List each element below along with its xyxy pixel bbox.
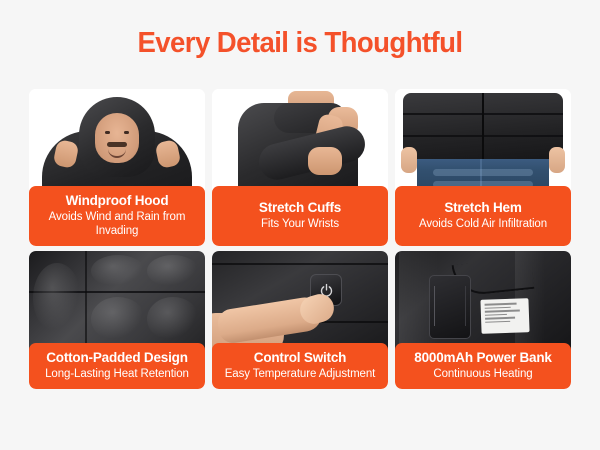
card-title: Control Switch	[216, 350, 384, 366]
photo-control-switch	[212, 251, 388, 350]
card-subtitle: Avoids Cold Air Infiltration	[399, 217, 567, 231]
card-subtitle: Fits Your Wrists	[216, 217, 384, 231]
feature-card-stretch-hem[interactable]: Stretch Hem Avoids Cold Air Infiltration	[395, 89, 571, 246]
label-stretch-cuffs: Stretch Cuffs Fits Your Wrists	[212, 186, 388, 246]
card-title: Windproof Hood	[33, 193, 201, 209]
label-windproof-hood: Windproof Hood Avoids Wind and Rain from…	[29, 186, 205, 246]
card-title: Stretch Cuffs	[216, 200, 384, 216]
label-control-switch: Control Switch Easy Temperature Adjustme…	[212, 343, 388, 389]
label-cotton-padded-design: Cotton-Padded Design Long-Lasting Heat R…	[29, 343, 205, 389]
photo-power-bank	[395, 251, 571, 350]
photo-stretch-cuffs	[212, 89, 388, 193]
card-subtitle: Long-Lasting Heat Retention	[33, 367, 201, 381]
card-title: Cotton-Padded Design	[33, 350, 201, 366]
instruction-card	[480, 298, 529, 334]
label-power-bank: 8000mAh Power Bank Continuous Heating	[395, 343, 571, 389]
label-stretch-hem: Stretch Hem Avoids Cold Air Infiltration	[395, 186, 571, 246]
feature-card-grid: Windproof Hood Avoids Wind and Rain from…	[29, 89, 572, 389]
card-subtitle: Easy Temperature Adjustment	[216, 367, 384, 381]
feature-card-cotton-padded-design[interactable]: Cotton-Padded Design Long-Lasting Heat R…	[29, 251, 205, 389]
feature-card-control-switch[interactable]: Control Switch Easy Temperature Adjustme…	[212, 251, 388, 389]
photo-stretch-hem	[395, 89, 571, 193]
card-title: Stretch Hem	[399, 200, 567, 216]
card-title: 8000mAh Power Bank	[399, 350, 567, 366]
card-subtitle: Avoids Wind and Rain from Invading	[33, 210, 201, 238]
photo-windproof-hood	[29, 89, 205, 193]
feature-card-stretch-cuffs[interactable]: Stretch Cuffs Fits Your Wrists	[212, 89, 388, 246]
card-subtitle: Continuous Heating	[399, 367, 567, 381]
feature-highlight-page: Every Detail is Thoughtful Windproof Hoo…	[0, 0, 600, 450]
feature-card-windproof-hood[interactable]: Windproof Hood Avoids Wind and Rain from…	[29, 89, 205, 246]
photo-cotton-padded-design	[29, 251, 205, 350]
page-title: Every Detail is Thoughtful	[15, 26, 585, 60]
feature-card-power-bank[interactable]: 8000mAh Power Bank Continuous Heating	[395, 251, 571, 389]
